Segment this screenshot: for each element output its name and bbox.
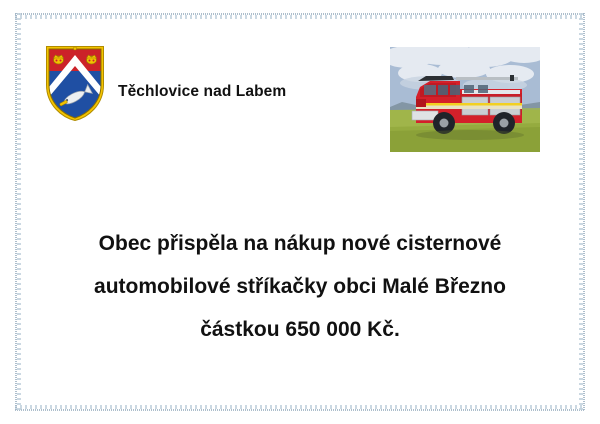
message-line-3: částkou 650 000 Kč. <box>40 308 560 351</box>
coat-of-arms-shield-icon <box>45 45 105 121</box>
border-edge-bottom <box>15 405 585 411</box>
message-line-1: Obec přispěla na nákup nové cisternové <box>40 222 560 265</box>
village-name-title: Těchlovice nad Labem <box>118 83 286 101</box>
message-line-2: automobilové stříkačky obci Malé Březno <box>40 265 560 308</box>
slide-canvas: Těchlovice nad Labem <box>0 0 600 424</box>
fire-truck-photo <box>390 47 540 152</box>
main-message: Obec přispěla na nákup nové cisternové a… <box>40 222 560 351</box>
